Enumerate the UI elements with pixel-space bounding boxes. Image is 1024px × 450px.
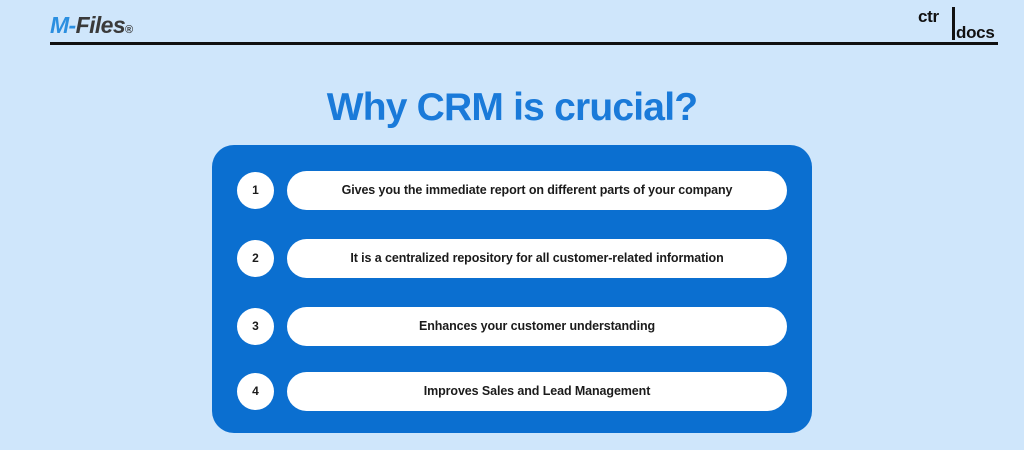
list-item-label: It is a centralized repository for all c…	[287, 239, 787, 278]
list-item-number-badge: 4	[237, 373, 274, 410]
ctrl-docs-logo-line-bottom: docs	[956, 24, 994, 41]
m-files-logo-suffix: Files	[76, 12, 125, 38]
list-item[interactable]: 3 Enhances your customer understanding	[237, 306, 787, 346]
benefits-card: 1 Gives you the immediate report on diff…	[212, 145, 812, 433]
benefits-list: 1 Gives you the immediate report on diff…	[212, 145, 812, 433]
list-item[interactable]: 1 Gives you the immediate report on diff…	[237, 170, 787, 210]
m-files-logo: M-Files®	[50, 14, 133, 37]
list-item-number-badge: 3	[237, 308, 274, 345]
header-divider	[50, 42, 998, 45]
page-header: M-Files® ctr docs	[0, 0, 1024, 52]
list-item[interactable]: 2 It is a centralized repository for all…	[237, 238, 787, 278]
registered-mark-icon: ®	[125, 24, 133, 36]
ctrl-docs-logo-divider-icon	[952, 7, 955, 40]
list-item-number-badge: 1	[237, 172, 274, 209]
list-item-number-badge: 2	[237, 240, 274, 277]
page-title: Why CRM is crucial?	[0, 88, 1024, 127]
ctrl-docs-logo-line-top: ctr	[918, 8, 939, 25]
list-item[interactable]: 4 Improves Sales and Lead Management	[237, 371, 787, 411]
list-item-label: Improves Sales and Lead Management	[287, 372, 787, 411]
list-item-label: Enhances your customer understanding	[287, 307, 787, 346]
m-files-logo-prefix: M-	[50, 12, 76, 38]
list-item-label: Gives you the immediate report on differ…	[287, 171, 787, 210]
